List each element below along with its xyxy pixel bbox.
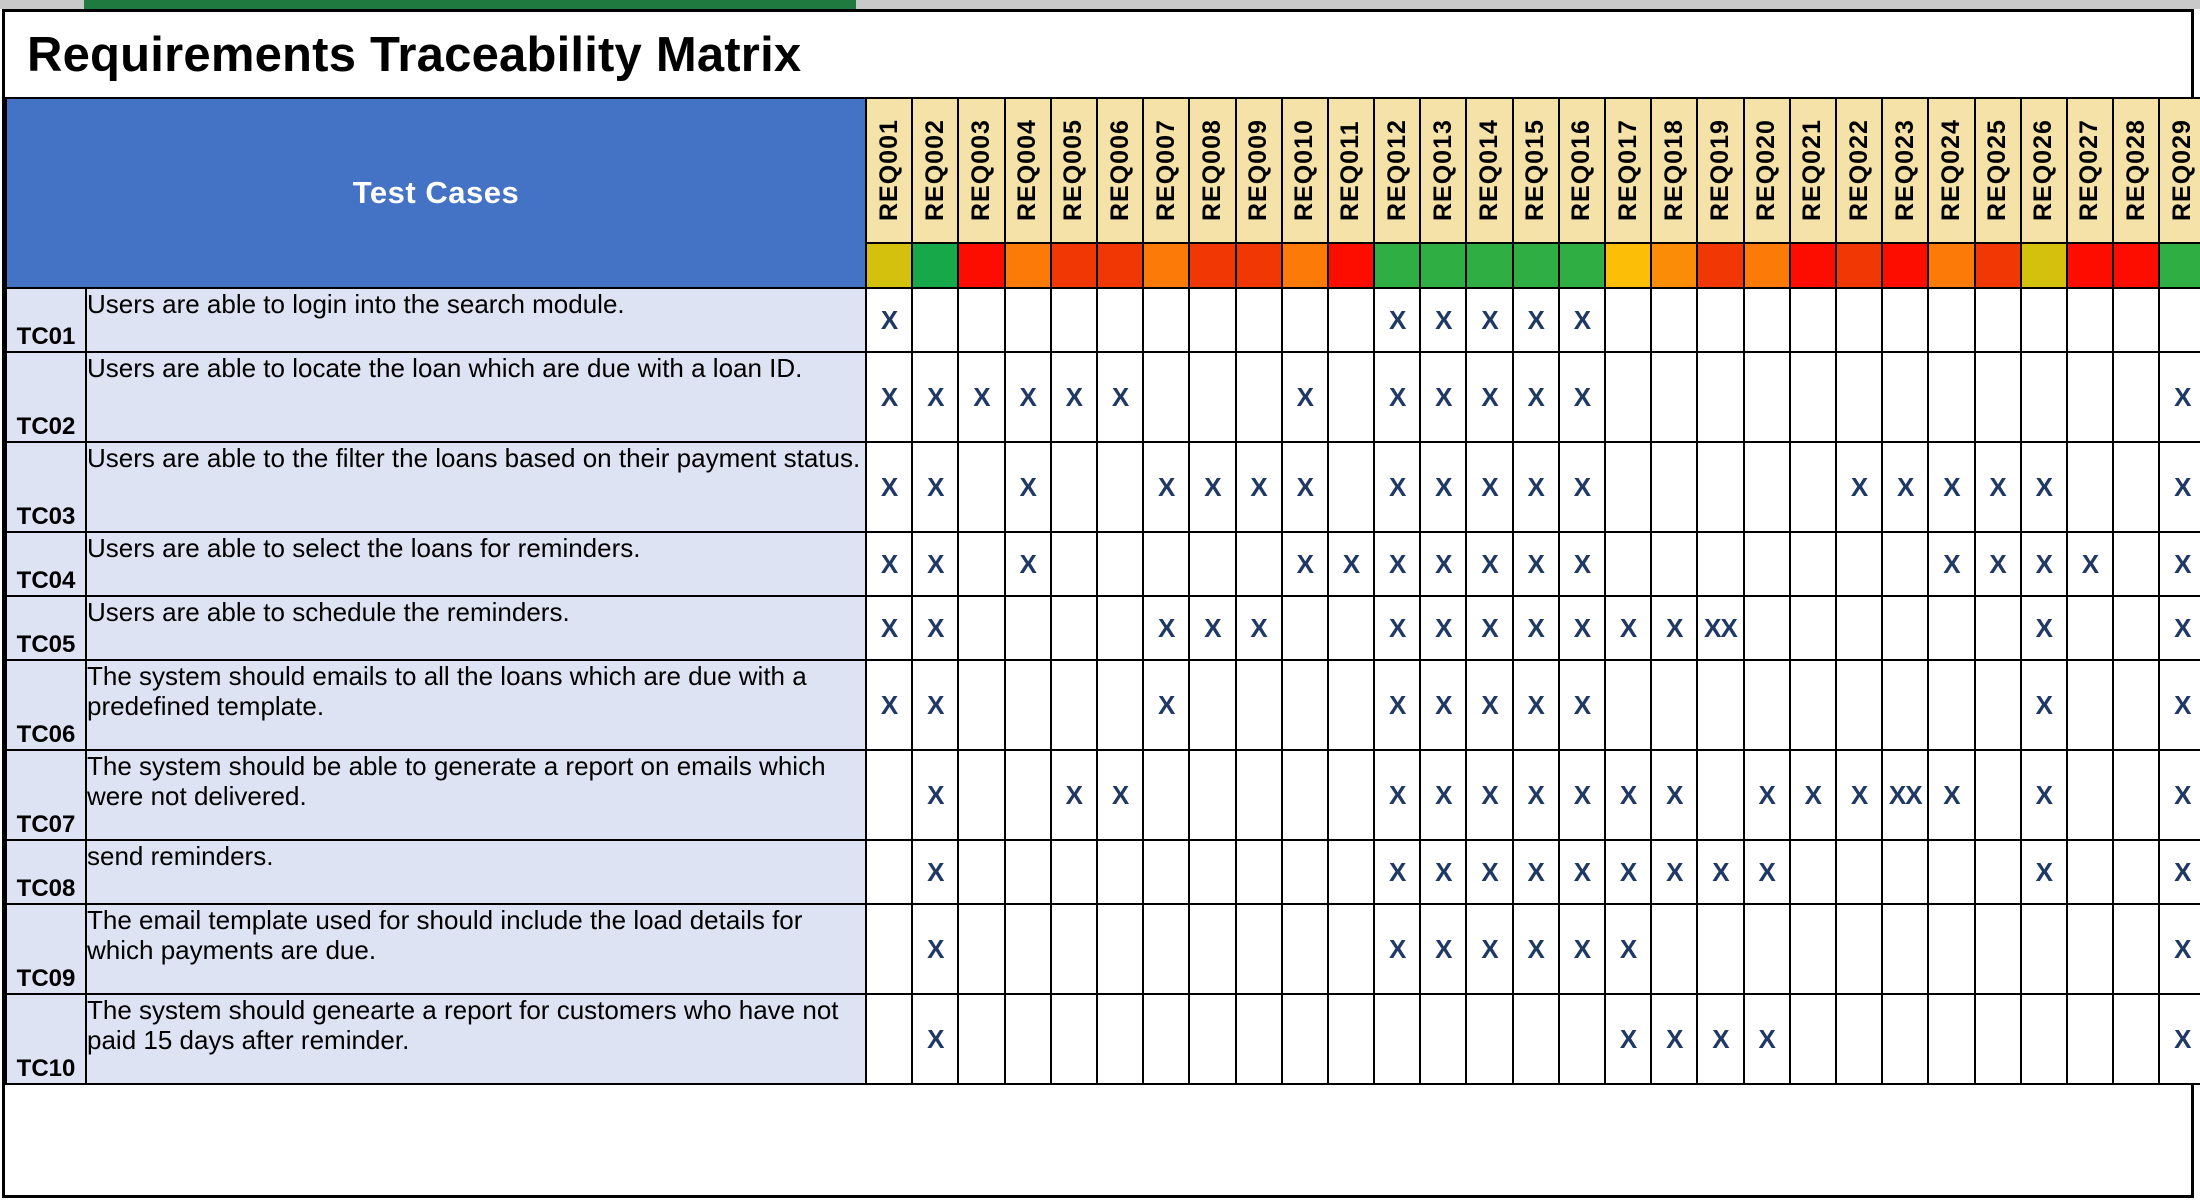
trace-cell[interactable]: X — [1605, 994, 1651, 1084]
trace-cell[interactable]: X — [1005, 352, 1051, 442]
trace-cell[interactable] — [1744, 596, 1790, 660]
trace-cell[interactable]: X — [912, 442, 958, 532]
trace-cell[interactable] — [1836, 596, 1882, 660]
trace-cell[interactable]: X — [912, 750, 958, 840]
req-header-req003[interactable]: REQ003 — [958, 98, 1004, 243]
trace-cell[interactable]: X — [2067, 532, 2113, 596]
trace-cell[interactable]: X — [1513, 904, 1559, 994]
req-header-req023[interactable]: REQ023 — [1882, 98, 1928, 243]
trace-cell[interactable]: X — [1513, 442, 1559, 532]
trace-cell[interactable]: X — [1513, 840, 1559, 904]
req-header-req006[interactable]: REQ006 — [1097, 98, 1143, 243]
trace-cell[interactable]: X — [1744, 840, 1790, 904]
trace-cell[interactable] — [1697, 660, 1743, 750]
trace-cell[interactable] — [1236, 660, 1282, 750]
trace-cell[interactable] — [1790, 442, 1836, 532]
trace-cell[interactable] — [958, 442, 1004, 532]
trace-cell[interactable] — [2113, 994, 2159, 1084]
trace-cell[interactable] — [1605, 352, 1651, 442]
trace-cell[interactable] — [2113, 352, 2159, 442]
trace-cell[interactable] — [866, 994, 912, 1084]
trace-cell[interactable] — [1651, 352, 1697, 442]
trace-cell[interactable]: X — [1466, 352, 1512, 442]
trace-cell[interactable]: X — [866, 352, 912, 442]
trace-cell[interactable]: X — [1143, 596, 1189, 660]
trace-cell[interactable] — [1697, 288, 1743, 352]
trace-cell[interactable] — [1143, 904, 1189, 994]
trace-cell[interactable] — [1051, 904, 1097, 994]
trace-cell[interactable]: X — [1559, 288, 1605, 352]
trace-cell[interactable] — [958, 288, 1004, 352]
trace-cell[interactable] — [2067, 904, 2113, 994]
req-header-req020[interactable]: REQ020 — [1744, 98, 1790, 243]
trace-cell[interactable]: X — [2021, 750, 2067, 840]
trace-cell[interactable] — [2113, 904, 2159, 994]
trace-cell[interactable] — [1697, 352, 1743, 442]
trace-cell[interactable]: X — [1143, 660, 1189, 750]
trace-cell[interactable]: X — [1882, 442, 1928, 532]
trace-cell[interactable]: X — [1975, 532, 2021, 596]
trace-cell[interactable] — [1189, 750, 1235, 840]
trace-cell[interactable]: X — [1605, 596, 1651, 660]
req-header-req016[interactable]: REQ016 — [1559, 98, 1605, 243]
trace-cell[interactable] — [1236, 532, 1282, 596]
trace-cell[interactable]: X — [1143, 442, 1189, 532]
trace-cell[interactable] — [912, 288, 958, 352]
req-header-req027[interactable]: REQ027 — [2067, 98, 2113, 243]
trace-cell[interactable] — [1882, 840, 1928, 904]
trace-cell[interactable] — [1651, 532, 1697, 596]
trace-cell[interactable] — [1005, 596, 1051, 660]
trace-cell[interactable]: X — [1836, 442, 1882, 532]
trace-cell[interactable] — [866, 904, 912, 994]
req-header-req019[interactable]: REQ019 — [1697, 98, 1743, 243]
trace-cell[interactable] — [2067, 660, 2113, 750]
trace-cell[interactable] — [1097, 660, 1143, 750]
trace-cell[interactable]: X — [866, 442, 912, 532]
trace-cell[interactable]: X — [2021, 596, 2067, 660]
trace-cell[interactable] — [1836, 288, 1882, 352]
trace-cell[interactable] — [1836, 840, 1882, 904]
trace-cell[interactable] — [1790, 352, 1836, 442]
trace-cell[interactable] — [958, 750, 1004, 840]
trace-cell[interactable] — [1928, 596, 1974, 660]
trace-cell[interactable]: X — [1928, 750, 1974, 840]
trace-cell[interactable] — [2113, 288, 2159, 352]
trace-cell[interactable]: X — [1005, 442, 1051, 532]
trace-cell[interactable] — [1651, 660, 1697, 750]
trace-cell[interactable]: X — [866, 532, 912, 596]
trace-cell[interactable]: X — [1189, 442, 1235, 532]
trace-cell[interactable] — [1697, 750, 1743, 840]
trace-cell[interactable] — [1790, 904, 1836, 994]
trace-cell[interactable] — [1282, 288, 1328, 352]
trace-cell[interactable]: X — [1374, 840, 1420, 904]
trace-cell[interactable] — [1882, 532, 1928, 596]
trace-cell[interactable]: X — [1374, 352, 1420, 442]
trace-cell[interactable]: X — [1466, 904, 1512, 994]
trace-cell[interactable] — [1697, 904, 1743, 994]
trace-cell[interactable]: XX — [1882, 750, 1928, 840]
trace-cell[interactable] — [1051, 442, 1097, 532]
trace-cell[interactable] — [1836, 352, 1882, 442]
trace-cell[interactable] — [1236, 840, 1282, 904]
trace-cell[interactable] — [958, 840, 1004, 904]
trace-cell[interactable] — [1189, 352, 1235, 442]
trace-cell[interactable] — [1836, 532, 1882, 596]
trace-cell[interactable] — [1282, 750, 1328, 840]
trace-cell[interactable] — [1882, 660, 1928, 750]
trace-cell[interactable] — [1143, 750, 1189, 840]
trace-cell[interactable] — [1790, 532, 1836, 596]
trace-cell[interactable] — [1790, 288, 1836, 352]
trace-cell[interactable] — [1928, 840, 1974, 904]
trace-cell[interactable]: X — [1097, 750, 1143, 840]
trace-cell[interactable] — [1651, 904, 1697, 994]
trace-cell[interactable]: X — [1420, 660, 1466, 750]
trace-cell[interactable] — [1143, 840, 1189, 904]
trace-cell[interactable]: X — [1697, 840, 1743, 904]
req-header-req021[interactable]: REQ021 — [1790, 98, 1836, 243]
trace-cell[interactable] — [2067, 352, 2113, 442]
trace-cell[interactable]: X — [1651, 750, 1697, 840]
trace-cell[interactable] — [1051, 532, 1097, 596]
trace-cell[interactable] — [1328, 750, 1374, 840]
trace-cell[interactable]: X — [2159, 442, 2200, 532]
trace-cell[interactable] — [1605, 532, 1651, 596]
trace-cell[interactable]: X — [1374, 288, 1420, 352]
trace-cell[interactable] — [2067, 288, 2113, 352]
req-header-req004[interactable]: REQ004 — [1005, 98, 1051, 243]
trace-cell[interactable]: X — [1466, 442, 1512, 532]
req-header-req005[interactable]: REQ005 — [1051, 98, 1097, 243]
trace-cell[interactable]: X — [1236, 596, 1282, 660]
trace-cell[interactable] — [1697, 532, 1743, 596]
trace-cell[interactable]: X — [2159, 352, 2200, 442]
trace-cell[interactable] — [1143, 532, 1189, 596]
trace-cell[interactable]: X — [1559, 596, 1605, 660]
trace-cell[interactable]: X — [1605, 750, 1651, 840]
trace-cell[interactable]: X — [1466, 660, 1512, 750]
trace-cell[interactable]: X — [1374, 750, 1420, 840]
trace-cell[interactable] — [1744, 532, 1790, 596]
trace-cell[interactable] — [958, 994, 1004, 1084]
trace-cell[interactable] — [1005, 904, 1051, 994]
trace-cell[interactable] — [958, 596, 1004, 660]
req-header-req011[interactable]: REQ011 — [1328, 98, 1374, 243]
trace-cell[interactable] — [1282, 994, 1328, 1084]
req-header-req022[interactable]: REQ022 — [1836, 98, 1882, 243]
trace-cell[interactable]: X — [1420, 352, 1466, 442]
trace-cell[interactable]: X — [1328, 532, 1374, 596]
trace-cell[interactable] — [1928, 352, 1974, 442]
trace-cell[interactable] — [1790, 596, 1836, 660]
trace-cell[interactable] — [1328, 442, 1374, 532]
trace-cell[interactable] — [1097, 288, 1143, 352]
trace-cell[interactable]: X — [2021, 840, 2067, 904]
trace-cell[interactable] — [958, 660, 1004, 750]
trace-cell[interactable] — [1143, 994, 1189, 1084]
req-header-req024[interactable]: REQ024 — [1928, 98, 1974, 243]
trace-cell[interactable] — [2113, 596, 2159, 660]
trace-cell[interactable] — [1051, 840, 1097, 904]
trace-cell[interactable]: X — [1420, 288, 1466, 352]
trace-cell[interactable]: X — [1466, 750, 1512, 840]
trace-cell[interactable] — [1097, 994, 1143, 1084]
trace-cell[interactable] — [1282, 904, 1328, 994]
trace-cell[interactable] — [1744, 660, 1790, 750]
trace-cell[interactable]: X — [1189, 596, 1235, 660]
trace-cell[interactable]: X — [1051, 352, 1097, 442]
trace-cell[interactable]: X — [1374, 532, 1420, 596]
trace-cell[interactable]: X — [1928, 532, 1974, 596]
trace-cell[interactable] — [1005, 660, 1051, 750]
trace-cell[interactable]: X — [1559, 750, 1605, 840]
trace-cell[interactable] — [1513, 994, 1559, 1084]
trace-cell[interactable] — [1466, 994, 1512, 1084]
req-header-req013[interactable]: REQ013 — [1420, 98, 1466, 243]
trace-cell[interactable]: X — [912, 994, 958, 1084]
trace-cell[interactable] — [1328, 596, 1374, 660]
trace-cell[interactable] — [1143, 288, 1189, 352]
trace-cell[interactable] — [866, 750, 912, 840]
trace-cell[interactable]: X — [1605, 840, 1651, 904]
trace-cell[interactable] — [1975, 596, 2021, 660]
trace-cell[interactable] — [1975, 352, 2021, 442]
trace-cell[interactable]: X — [2159, 750, 2200, 840]
trace-cell[interactable] — [1790, 994, 1836, 1084]
trace-cell[interactable] — [1744, 904, 1790, 994]
req-header-req015[interactable]: REQ015 — [1513, 98, 1559, 243]
trace-cell[interactable] — [1189, 288, 1235, 352]
trace-cell[interactable] — [1282, 660, 1328, 750]
trace-cell[interactable]: X — [1420, 750, 1466, 840]
trace-cell[interactable] — [1189, 994, 1235, 1084]
trace-cell[interactable]: X — [1513, 750, 1559, 840]
trace-cell[interactable] — [2113, 660, 2159, 750]
trace-cell[interactable] — [1097, 532, 1143, 596]
trace-cell[interactable] — [1005, 994, 1051, 1084]
trace-cell[interactable] — [1790, 840, 1836, 904]
trace-cell[interactable] — [2021, 994, 2067, 1084]
trace-cell[interactable]: X — [1928, 442, 1974, 532]
trace-cell[interactable]: XX — [1697, 596, 1743, 660]
trace-cell[interactable]: X — [1282, 532, 1328, 596]
trace-cell[interactable]: X — [1466, 288, 1512, 352]
trace-cell[interactable]: X — [912, 352, 958, 442]
trace-cell[interactable] — [1836, 904, 1882, 994]
trace-cell[interactable] — [1328, 660, 1374, 750]
trace-cell[interactable]: X — [1466, 596, 1512, 660]
trace-cell[interactable] — [1928, 904, 1974, 994]
trace-cell[interactable] — [1097, 840, 1143, 904]
trace-cell[interactable] — [1236, 994, 1282, 1084]
trace-cell[interactable]: X — [2159, 532, 2200, 596]
trace-cell[interactable]: X — [1651, 994, 1697, 1084]
trace-cell[interactable]: X — [912, 660, 958, 750]
trace-cell[interactable]: X — [1513, 288, 1559, 352]
trace-cell[interactable] — [1189, 660, 1235, 750]
trace-cell[interactable]: X — [1513, 352, 1559, 442]
trace-cell[interactable] — [866, 840, 912, 904]
trace-cell[interactable]: X — [1466, 840, 1512, 904]
trace-cell[interactable]: X — [1282, 442, 1328, 532]
trace-cell[interactable] — [1189, 904, 1235, 994]
trace-cell[interactable] — [2021, 904, 2067, 994]
trace-cell[interactable] — [1189, 840, 1235, 904]
trace-cell[interactable] — [2067, 442, 2113, 532]
trace-cell[interactable] — [1975, 840, 2021, 904]
trace-cell[interactable]: X — [2021, 442, 2067, 532]
req-header-req001[interactable]: REQ001 — [866, 98, 912, 243]
trace-cell[interactable] — [1328, 840, 1374, 904]
req-header-req010[interactable]: REQ010 — [1282, 98, 1328, 243]
trace-cell[interactable]: X — [958, 352, 1004, 442]
trace-cell[interactable] — [1697, 442, 1743, 532]
trace-cell[interactable] — [1051, 660, 1097, 750]
trace-cell[interactable] — [1328, 352, 1374, 442]
req-header-req009[interactable]: REQ009 — [1236, 98, 1282, 243]
trace-cell[interactable] — [1605, 660, 1651, 750]
trace-cell[interactable] — [1975, 288, 2021, 352]
trace-cell[interactable]: X — [912, 904, 958, 994]
req-header-req008[interactable]: REQ008 — [1189, 98, 1235, 243]
req-header-req026[interactable]: REQ026 — [2021, 98, 2067, 243]
req-header-req028[interactable]: REQ028 — [2113, 98, 2159, 243]
trace-cell[interactable] — [1928, 660, 1974, 750]
trace-cell[interactable] — [2113, 442, 2159, 532]
trace-cell[interactable] — [958, 904, 1004, 994]
req-header-req029[interactable]: REQ029 — [2159, 98, 2200, 243]
trace-cell[interactable] — [2067, 596, 2113, 660]
trace-cell[interactable]: X — [1420, 442, 1466, 532]
trace-cell[interactable]: X — [2159, 994, 2200, 1084]
trace-cell[interactable] — [2067, 994, 2113, 1084]
trace-cell[interactable]: X — [2159, 840, 2200, 904]
trace-cell[interactable]: X — [912, 596, 958, 660]
trace-cell[interactable] — [1790, 660, 1836, 750]
trace-cell[interactable] — [1744, 442, 1790, 532]
trace-cell[interactable] — [1975, 994, 2021, 1084]
trace-cell[interactable]: X — [1374, 904, 1420, 994]
trace-cell[interactable]: X — [1559, 660, 1605, 750]
trace-cell[interactable] — [1975, 904, 2021, 994]
trace-cell[interactable]: X — [1282, 352, 1328, 442]
trace-cell[interactable] — [1005, 750, 1051, 840]
trace-cell[interactable] — [1236, 750, 1282, 840]
trace-cell[interactable]: X — [1697, 994, 1743, 1084]
trace-cell[interactable]: X — [1420, 840, 1466, 904]
trace-cell[interactable]: X — [866, 596, 912, 660]
trace-cell[interactable] — [1836, 660, 1882, 750]
trace-cell[interactable] — [1051, 596, 1097, 660]
req-header-req002[interactable]: REQ002 — [912, 98, 958, 243]
trace-cell[interactable] — [1051, 288, 1097, 352]
trace-cell[interactable] — [1097, 596, 1143, 660]
trace-cell[interactable]: X — [1744, 994, 1790, 1084]
trace-cell[interactable] — [2021, 352, 2067, 442]
trace-cell[interactable]: X — [1236, 442, 1282, 532]
req-header-req007[interactable]: REQ007 — [1143, 98, 1189, 243]
trace-cell[interactable] — [2067, 750, 2113, 840]
req-header-req018[interactable]: REQ018 — [1651, 98, 1697, 243]
trace-cell[interactable]: X — [1744, 750, 1790, 840]
trace-cell[interactable] — [1097, 904, 1143, 994]
trace-cell[interactable]: X — [2021, 532, 2067, 596]
trace-cell[interactable]: X — [1975, 442, 2021, 532]
trace-cell[interactable] — [1836, 994, 1882, 1084]
trace-cell[interactable] — [2113, 532, 2159, 596]
trace-cell[interactable]: X — [1374, 660, 1420, 750]
trace-cell[interactable]: X — [2159, 904, 2200, 994]
trace-cell[interactable]: X — [1466, 532, 1512, 596]
trace-cell[interactable] — [1975, 750, 2021, 840]
trace-cell[interactable] — [1882, 596, 1928, 660]
trace-cell[interactable] — [1744, 288, 1790, 352]
trace-cell[interactable]: X — [1513, 596, 1559, 660]
trace-cell[interactable] — [1051, 994, 1097, 1084]
trace-cell[interactable]: X — [1651, 840, 1697, 904]
trace-cell[interactable] — [1651, 442, 1697, 532]
trace-cell[interactable]: X — [1559, 840, 1605, 904]
trace-cell[interactable]: X — [1559, 352, 1605, 442]
trace-cell[interactable] — [2021, 288, 2067, 352]
trace-cell[interactable] — [1143, 352, 1189, 442]
trace-cell[interactable]: X — [1651, 596, 1697, 660]
trace-cell[interactable] — [2159, 288, 2200, 352]
trace-cell[interactable] — [1236, 352, 1282, 442]
trace-cell[interactable]: X — [1420, 904, 1466, 994]
trace-cell[interactable]: X — [1420, 532, 1466, 596]
req-header-req025[interactable]: REQ025 — [1975, 98, 2021, 243]
trace-cell[interactable]: X — [1790, 750, 1836, 840]
trace-cell[interactable] — [1882, 994, 1928, 1084]
trace-cell[interactable] — [1651, 288, 1697, 352]
trace-cell[interactable] — [958, 532, 1004, 596]
trace-cell[interactable] — [1236, 904, 1282, 994]
trace-cell[interactable] — [1328, 904, 1374, 994]
trace-cell[interactable] — [1282, 596, 1328, 660]
trace-cell[interactable] — [1328, 288, 1374, 352]
trace-cell[interactable] — [1882, 904, 1928, 994]
trace-cell[interactable] — [1975, 660, 2021, 750]
trace-cell[interactable] — [1097, 442, 1143, 532]
trace-cell[interactable] — [1559, 994, 1605, 1084]
trace-cell[interactable]: X — [1005, 532, 1051, 596]
trace-cell[interactable]: X — [1559, 532, 1605, 596]
trace-cell[interactable]: X — [1605, 904, 1651, 994]
trace-cell[interactable] — [2113, 750, 2159, 840]
trace-cell[interactable]: X — [912, 840, 958, 904]
trace-cell[interactable]: X — [866, 288, 912, 352]
trace-cell[interactable] — [2067, 840, 2113, 904]
trace-cell[interactable]: X — [1513, 532, 1559, 596]
trace-cell[interactable] — [1928, 288, 1974, 352]
req-header-req012[interactable]: REQ012 — [1374, 98, 1420, 243]
req-header-req017[interactable]: REQ017 — [1605, 98, 1651, 243]
trace-cell[interactable] — [1882, 352, 1928, 442]
trace-cell[interactable]: X — [1420, 596, 1466, 660]
trace-cell[interactable] — [1744, 352, 1790, 442]
trace-cell[interactable]: X — [2021, 660, 2067, 750]
trace-cell[interactable]: X — [1374, 442, 1420, 532]
trace-cell[interactable] — [1005, 288, 1051, 352]
trace-cell[interactable]: X — [1097, 352, 1143, 442]
trace-cell[interactable]: X — [1559, 904, 1605, 994]
trace-cell[interactable] — [1420, 994, 1466, 1084]
trace-cell[interactable]: X — [1374, 596, 1420, 660]
trace-cell[interactable] — [1282, 840, 1328, 904]
